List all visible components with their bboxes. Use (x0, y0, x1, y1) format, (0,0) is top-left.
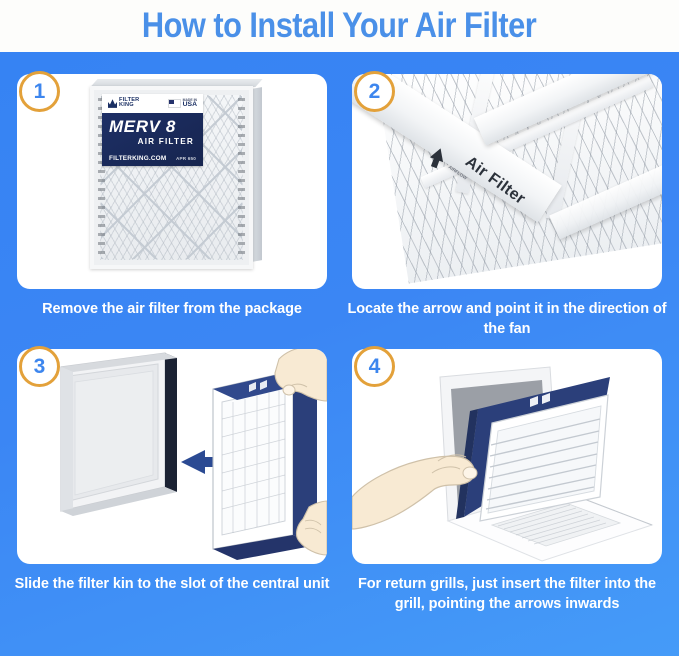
infographic-page: How to Install Your Air Filter (0, 0, 679, 656)
central-unit-slot (61, 353, 177, 516)
step-1-caption: Remove the air filter from the package (9, 300, 335, 320)
label-header-row: FILTER KING MADE IN USA (102, 94, 203, 113)
step-1-card: FILTER KING MADE IN USA (17, 74, 327, 289)
step-4-badge: 4 (354, 346, 395, 387)
filter-side-edge (252, 87, 262, 262)
step-2-card: AIRFLOW Air Filter (352, 74, 662, 289)
step-3-badge: 3 (19, 346, 60, 387)
step-3-card (17, 349, 327, 564)
made-in-usa-text: MADE IN USA (183, 99, 197, 108)
step-2-panel: AIRFLOW Air Filter 2 Locate the arrow an… (352, 74, 662, 339)
label-blue-area: MERV 8 AIR FILTER FILTERKING.COM APR 650 (102, 113, 203, 166)
steps-grid: FILTER KING MADE IN USA (0, 52, 679, 656)
brand-text: FILTER KING (119, 98, 139, 109)
step-4-caption: For return grills, just insert the filte… (344, 575, 670, 614)
made-in-usa-mark: MADE IN USA (168, 99, 197, 108)
step-4-card (352, 349, 662, 564)
crown-icon (108, 99, 117, 108)
filter-brand-label: FILTER KING MADE IN USA (102, 94, 203, 166)
step-2-caption: Locate the arrow and point it in the dir… (344, 300, 670, 339)
filter-right-pleat-ticks (238, 98, 245, 257)
step-1-badge: 1 (19, 71, 60, 112)
usa-flag-icon (168, 99, 181, 108)
header-bar: How to Install Your Air Filter (0, 0, 679, 52)
page-title: How to Install Your Air Filter (142, 6, 536, 46)
step-2-badge: 2 (354, 71, 395, 112)
filter-king-logo: FILTER KING (108, 98, 139, 109)
step-1-panel: FILTER KING MADE IN USA (17, 74, 327, 339)
air-filter-product-photo: FILTER KING MADE IN USA (90, 86, 253, 269)
step-3-caption: Slide the filter kin to the slot of the … (9, 575, 335, 595)
filter-corner-arrow-closeup: AIRFLOW Air Filter (352, 74, 662, 289)
step-4-panel: 4 For return grills, just insert the fil… (352, 349, 662, 649)
label-footer-row: FILTERKING.COM APR 650 (109, 155, 196, 162)
filter-into-central-unit-illustration (17, 349, 327, 564)
step-3-panel: 3 Slide the filter kin to the slot of th… (17, 349, 327, 634)
filter-into-return-grill-illustration (352, 349, 662, 564)
